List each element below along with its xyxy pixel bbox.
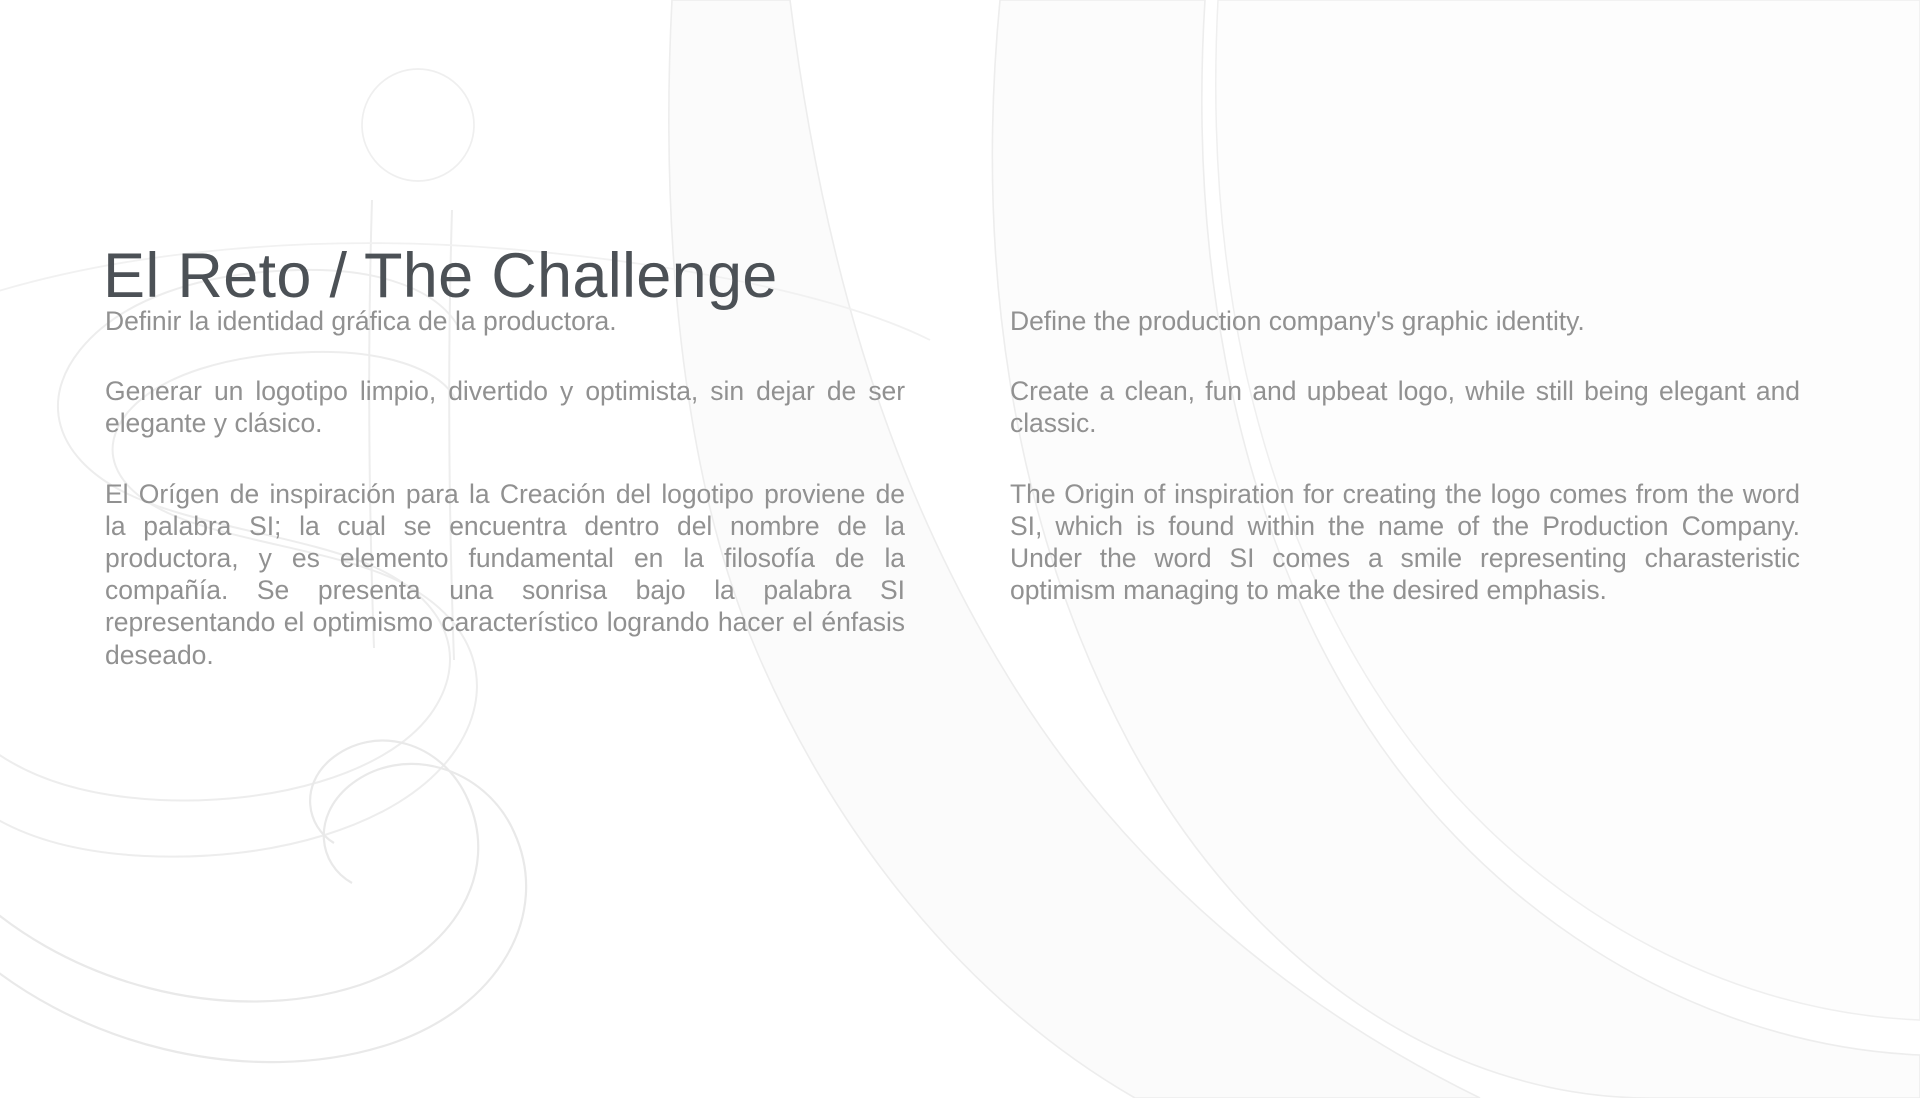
- paragraph-es-2: Generar un logotipo limpio, divertido y …: [105, 375, 905, 439]
- paragraph-es-1: Definir la identidad gráfica de la produ…: [105, 305, 905, 337]
- text-column-spanish: Definir la identidad gráfica de la produ…: [105, 305, 905, 671]
- paragraph-en-1: Define the production company's graphic …: [1010, 305, 1800, 337]
- paragraph-es-3: El Orígen de inspiración para la Creació…: [105, 478, 905, 671]
- page-title: El Reto / The Challenge: [103, 240, 1203, 312]
- slide-canvas: El Reto / The Challenge Definir la ident…: [0, 0, 1920, 1098]
- text-column-english: Define the production company's graphic …: [1010, 305, 1800, 606]
- paragraph-en-3: The Origin of inspiration for creating t…: [1010, 478, 1800, 607]
- slide-content: El Reto / The Challenge Definir la ident…: [0, 0, 1920, 1098]
- paragraph-en-2: Create a clean, fun and upbeat logo, whi…: [1010, 375, 1800, 439]
